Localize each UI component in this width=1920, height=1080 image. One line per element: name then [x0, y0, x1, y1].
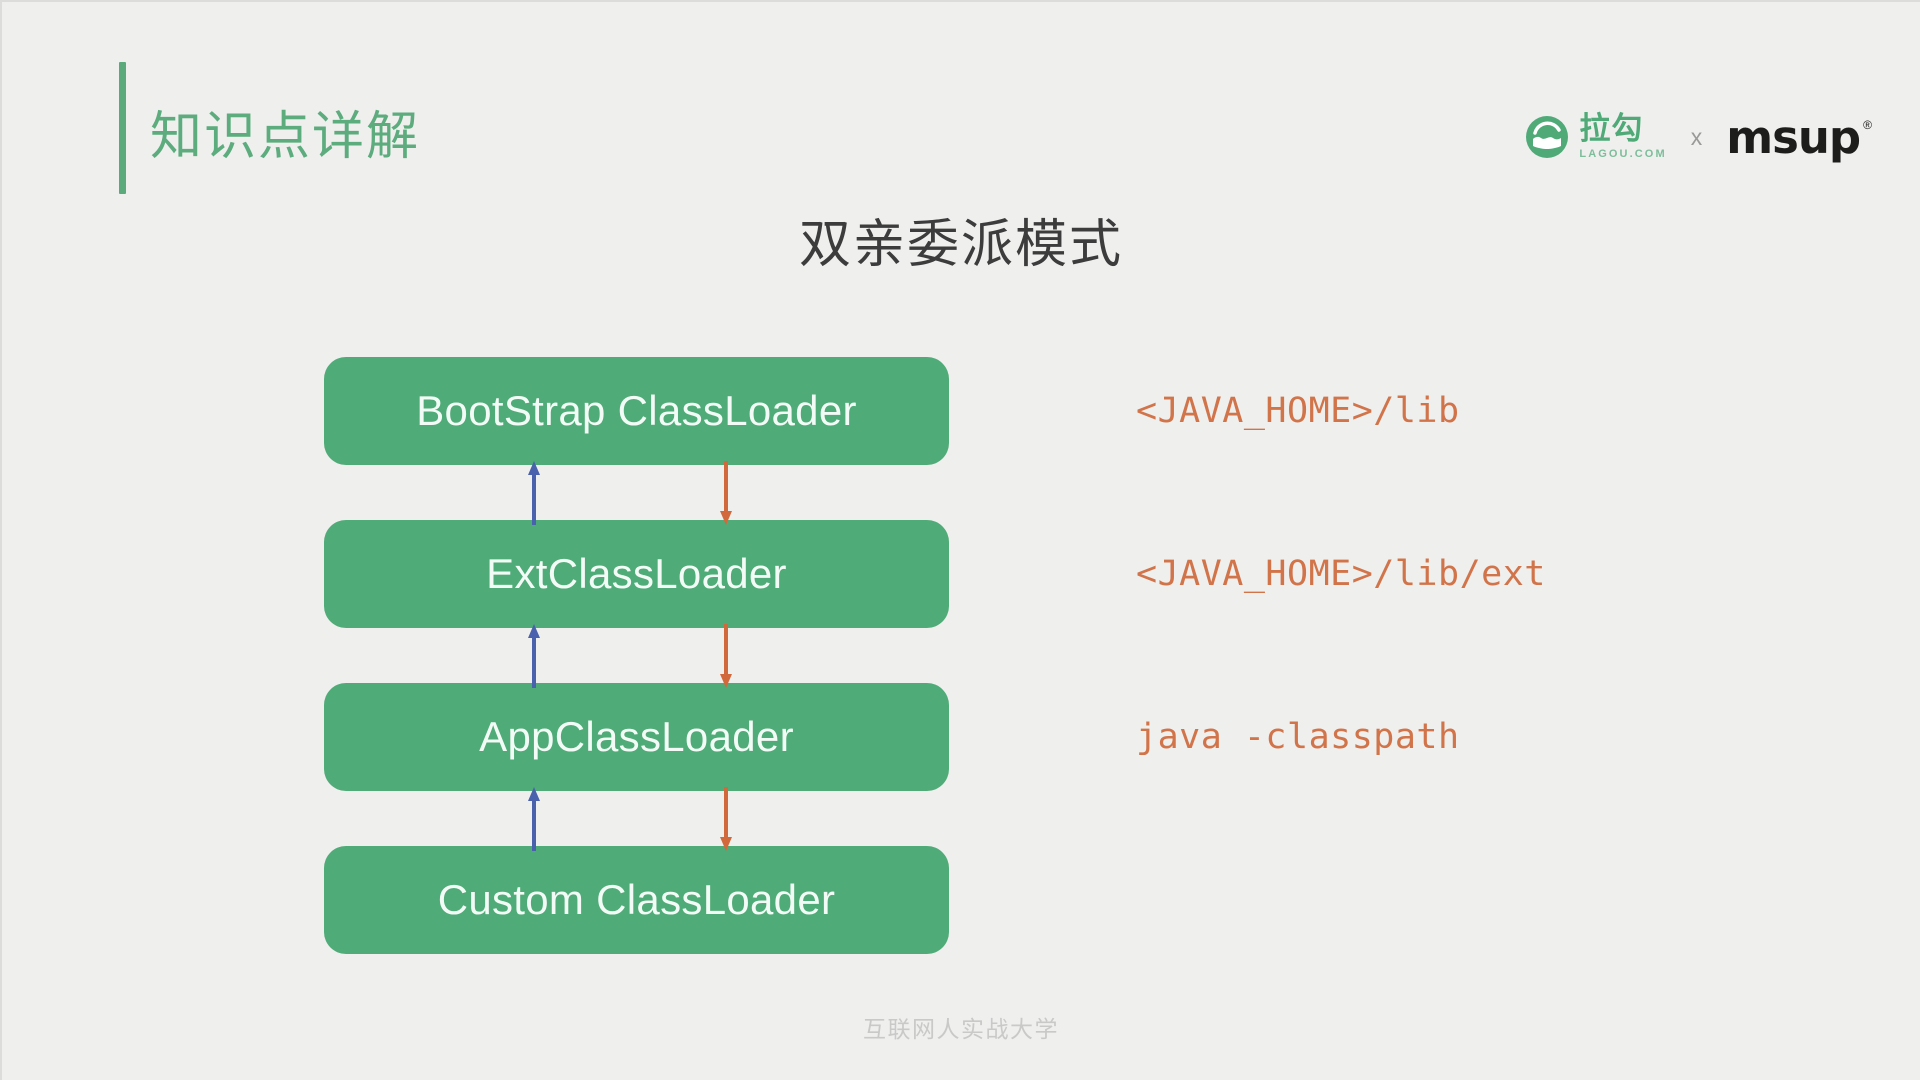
node-label: AppClassLoader	[479, 713, 794, 761]
msup-logo: msup ®	[1726, 115, 1872, 160]
lagou-circle-icon	[1525, 115, 1569, 159]
lagou-logo: 拉勾 LAGOU.COM	[1525, 114, 1666, 160]
footer-text: 互联网人实战大学	[2, 1010, 1920, 1044]
node-ext-classloader: ExtClassLoader	[324, 520, 949, 628]
arrow-up-icon	[526, 461, 542, 525]
annotation-bootstrap-path: <JAVA_HOME>/lib	[1136, 357, 1460, 465]
lagou-cn-text: 拉勾	[1579, 114, 1643, 145]
node-app-classloader: AppClassLoader	[324, 683, 949, 791]
node-label: Custom ClassLoader	[438, 876, 836, 924]
page-title: 知识点详解	[150, 94, 420, 169]
annotation-app-path: java -classpath	[1136, 683, 1460, 791]
node-custom-classloader: Custom ClassLoader	[324, 846, 949, 954]
annotation-ext-path: <JAVA_HOME>/lib/ext	[1136, 520, 1546, 628]
node-label: BootStrap ClassLoader	[416, 387, 857, 435]
arrow-down-icon	[718, 624, 734, 688]
classloader-diagram: BootStrap ClassLoader ExtClassLoader App…	[324, 357, 949, 957]
brand-separator: x	[1689, 124, 1705, 151]
arrow-up-icon	[526, 624, 542, 688]
slide-canvas: 知识点详解 拉勾 LAGOU.COM x msup ® 双亲委派模式	[0, 0, 1920, 1080]
lagou-wordmark: 拉勾 LAGOU.COM	[1579, 114, 1666, 160]
msup-wordmark: msup	[1726, 115, 1860, 160]
arrow-down-icon	[718, 787, 734, 851]
classpath-annotations: <JAVA_HOME>/lib <JAVA_HOME>/lib/ext java…	[1136, 357, 1776, 957]
node-bootstrap-classloader: BootStrap ClassLoader	[324, 357, 949, 465]
registered-trademark-icon: ®	[1863, 118, 1872, 132]
slide-heading: 双亲委派模式	[2, 202, 1920, 277]
brand-logos: 拉勾 LAGOU.COM x msup ®	[1525, 114, 1872, 160]
header-accent-bar	[119, 62, 126, 194]
arrow-up-icon	[526, 787, 542, 851]
arrow-down-icon	[718, 461, 734, 525]
node-label: ExtClassLoader	[486, 550, 787, 598]
lagou-en-text: LAGOU.COM	[1579, 149, 1666, 160]
